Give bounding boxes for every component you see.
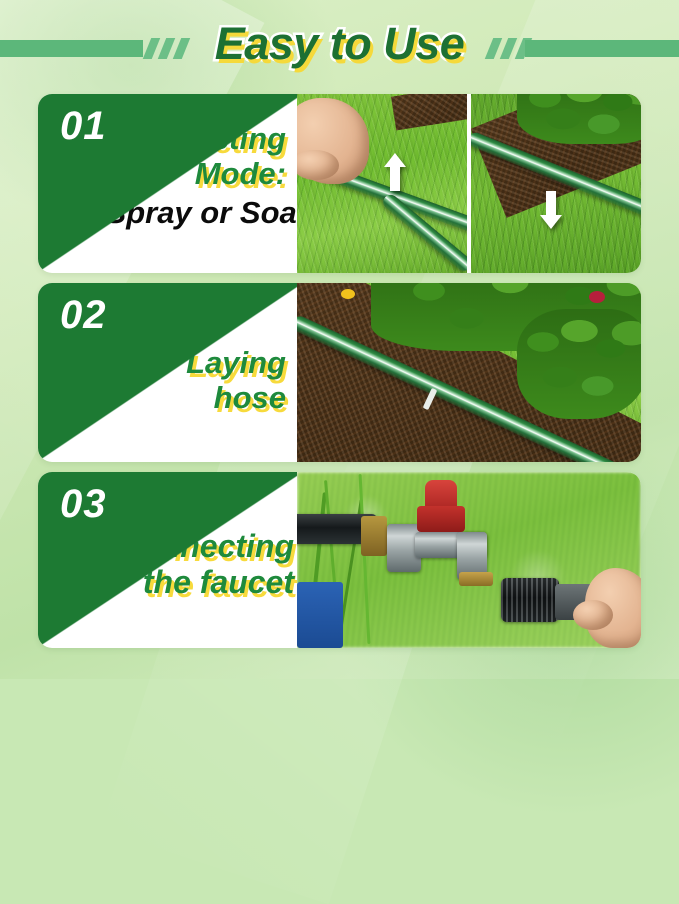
yellow-flower <box>341 289 355 299</box>
page-title: Easy to Use <box>0 18 679 70</box>
faucet-spout-thread <box>459 572 493 586</box>
faucet-handle <box>417 506 465 532</box>
step-03-line-2: the faucet <box>143 565 294 601</box>
step-02-number: 02 <box>60 293 107 338</box>
foliage <box>517 94 641 144</box>
step-card-02: Laying hose 02 <box>38 283 641 462</box>
step-card-03: Connecting the faucet 03 <box>38 472 641 648</box>
arrow-up-icon <box>383 152 407 192</box>
blue-pipe-base <box>297 582 343 648</box>
step-02-line-2: hose <box>214 381 286 416</box>
photo-hand-connecting-hose-to-faucet <box>297 472 641 648</box>
step-01-line-2: Mode: <box>195 157 286 192</box>
arrow-down-icon <box>539 190 563 230</box>
photo-hose-laid-along-garden-bed <box>297 283 641 462</box>
connector-ridges <box>501 578 559 622</box>
step-01-line-1: Selecting <box>148 122 286 157</box>
step-01-photos <box>297 94 641 273</box>
step-card-01: Selecting Mode: Spray or Soak 01 <box>38 94 641 273</box>
step-01-emphasis: Spray or Soak <box>106 195 314 231</box>
brass-nut <box>361 516 387 556</box>
step-03-number: 03 <box>60 482 107 527</box>
thumb <box>297 150 339 180</box>
finger <box>573 600 613 630</box>
foliage-right <box>517 309 641 419</box>
step-02-photos <box>297 283 641 462</box>
photo-hose-on-lawn-down <box>471 94 641 273</box>
step-02-line-1: Laying <box>186 346 286 381</box>
red-flower <box>589 291 605 303</box>
step-03-line-1: Connecting <box>118 529 294 565</box>
step-01-number: 01 <box>60 104 107 149</box>
photo-hand-bending-hose-up <box>297 94 467 273</box>
step-03-photos <box>297 472 641 648</box>
